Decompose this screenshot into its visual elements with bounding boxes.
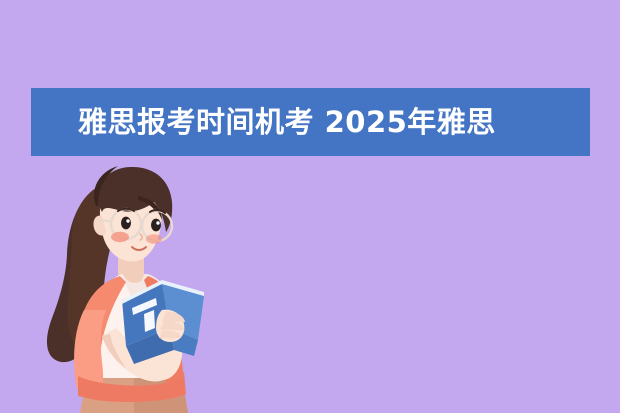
- glasses-bridge: [141, 224, 142, 225]
- eye-right-highlight: [156, 221, 159, 224]
- illustration-group: [47, 166, 204, 413]
- blush-right: [146, 234, 162, 244]
- reading-student-illustration: [26, 150, 226, 413]
- eye-right: [151, 219, 161, 232]
- title-banner: 雅思报考时间机考 2025年雅思: [31, 88, 590, 156]
- page-title: 雅思报考时间机考 2025年雅思: [31, 108, 496, 137]
- poster-canvas: 雅思报考时间机考 2025年雅思: [0, 0, 620, 413]
- eye-left-highlight: [126, 219, 129, 222]
- eye-left: [121, 217, 131, 230]
- blush-left: [111, 232, 129, 242]
